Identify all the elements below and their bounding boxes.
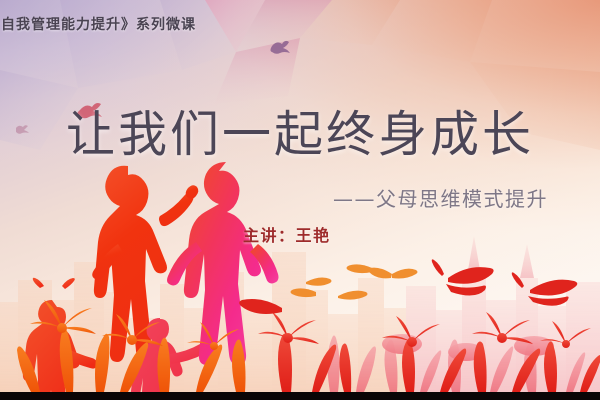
series-label: 《父母自我管理能力提升》系列微课 bbox=[0, 14, 196, 34]
presentation-slide: 《父母自我管理能力提升》系列微课 让我们一起终身成长 ——父母思维模式提升 主讲… bbox=[0, 0, 600, 400]
page-title: 让我们一起终身成长 bbox=[0, 108, 600, 163]
bottom-letterbox-bar bbox=[0, 392, 600, 400]
cover-artwork bbox=[0, 132, 600, 392]
bird-purple-icon bbox=[271, 41, 291, 54]
page-subtitle: ——父母思维模式提升 bbox=[333, 183, 548, 212]
speaker-name: 主讲：王艳 bbox=[243, 222, 331, 246]
butterfly-orange-icon bbox=[291, 264, 418, 299]
